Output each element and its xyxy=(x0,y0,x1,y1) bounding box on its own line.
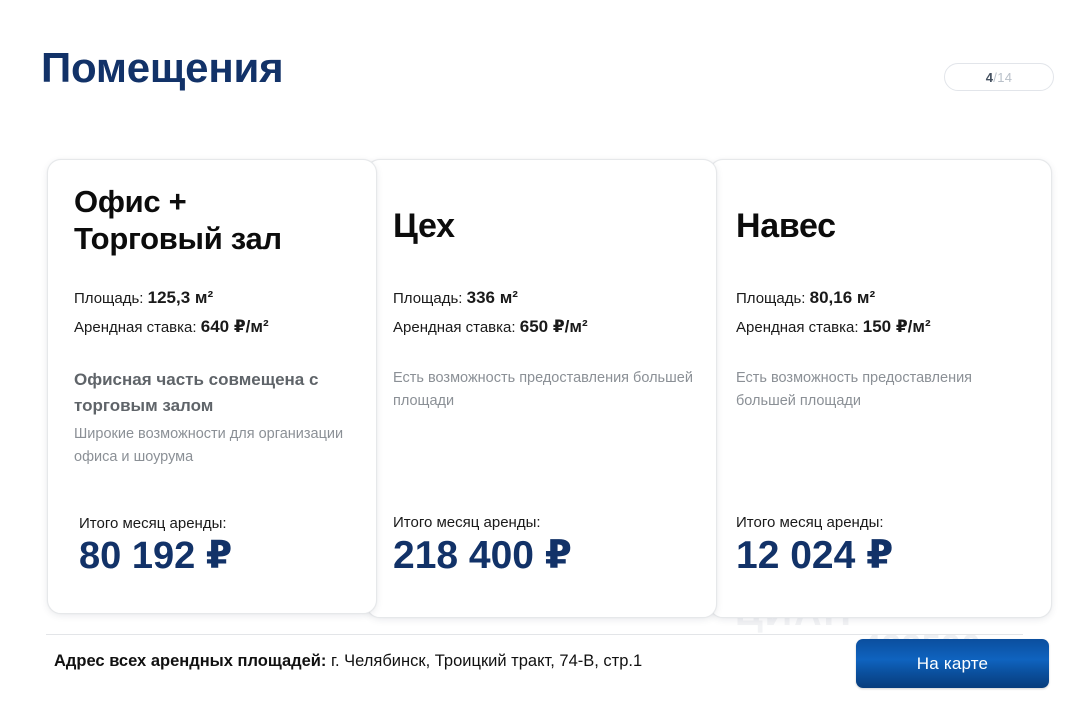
card-title-line-1: Офис + xyxy=(74,184,186,219)
card-total: Итого месяц аренды: 218 400 ₽ xyxy=(393,513,572,577)
page-counter: 4 / 14 xyxy=(944,63,1054,91)
spec-rate-label: Арендная ставка: xyxy=(74,319,197,336)
show-on-map-button[interactable]: На карте xyxy=(856,639,1049,688)
card-total-value: 12 024 ₽ xyxy=(736,535,893,577)
card-note-strong: Офисная часть совмещена с торговым залом xyxy=(74,367,354,419)
card-header: Офис + Торговый зал xyxy=(74,184,350,257)
spec-area-value: 125,3 м² xyxy=(148,288,214,307)
slide-header: Помещения 4 / 14 xyxy=(0,0,1069,150)
spec-area-value: 336 м² xyxy=(467,288,518,307)
spec-rate-value: 640 ₽/м² xyxy=(201,317,269,336)
card-header: Навес xyxy=(736,184,1025,246)
spec-rate-value: 650 ₽/м² xyxy=(520,317,588,336)
card-total: Итого месяц аренды: 12 024 ₽ xyxy=(736,513,893,577)
card-total: Итого месяц аренды: 80 192 ₽ xyxy=(79,514,232,577)
footer-address-value: г. Челябинск, Троицкий тракт, 74-В, стр.… xyxy=(331,652,642,670)
card-total-value: 80 192 ₽ xyxy=(79,536,232,577)
premise-card-office-retail[interactable]: Офис + Торговый зал Площадь: 125,3 м² Ар… xyxy=(47,159,377,614)
footer-address: Адрес всех арендных площадей: г. Челябин… xyxy=(54,650,642,673)
card-title: Навес xyxy=(736,206,1025,246)
card-total-label: Итого месяц аренды: xyxy=(79,514,232,534)
premise-card-canopy[interactable]: Навес Площадь: 80,16 м² Арендная ставка:… xyxy=(709,159,1052,618)
page-title: Помещения xyxy=(41,46,283,90)
card-notes: Есть возможность предоставления большей … xyxy=(393,367,694,414)
spec-area: Площадь: 336 м² xyxy=(393,283,588,312)
spec-rate-label: Арендная ставка: xyxy=(393,319,516,336)
footer-address-label: Адрес всех арендных площадей: xyxy=(54,652,326,670)
spec-area-value: 80,16 м² xyxy=(810,288,876,307)
spec-rate-label: Арендная ставка: xyxy=(736,319,859,336)
card-specs: Площадь: 336 м² Арендная ставка: 650 ₽/м… xyxy=(393,283,588,341)
footer-divider xyxy=(46,634,1023,635)
card-note-plain: Широкие возможности для организации офис… xyxy=(74,423,354,470)
premises-card-list: Офис + Торговый зал Площадь: 125,3 м² Ар… xyxy=(0,159,1069,621)
page-counter-total: 14 xyxy=(997,70,1012,85)
spec-area-label: Площадь: xyxy=(736,290,805,307)
slide-root: Помещения 4 / 14 ЦИАН 433590 Офис + Торг… xyxy=(0,0,1069,715)
spec-rate: Арендная ставка: 640 ₽/м² xyxy=(74,312,269,341)
premise-card-workshop[interactable]: Цех Площадь: 336 м² Арендная ставка: 650… xyxy=(366,159,717,618)
spec-area-label: Площадь: xyxy=(74,290,143,307)
spec-rate: Арендная ставка: 150 ₽/м² xyxy=(736,312,931,341)
card-title: Цех xyxy=(393,206,690,246)
card-note-plain: Есть возможность предоставления большей … xyxy=(393,367,694,414)
card-title: Офис + Торговый зал xyxy=(74,184,350,257)
spec-rate-value: 150 ₽/м² xyxy=(863,317,931,336)
spec-area-label: Площадь: xyxy=(393,290,462,307)
card-total-label: Итого месяц аренды: xyxy=(393,513,572,533)
card-specs: Площадь: 125,3 м² Арендная ставка: 640 ₽… xyxy=(74,283,269,341)
card-total-label: Итого месяц аренды: xyxy=(736,513,893,533)
card-notes: Офисная часть совмещена с торговым залом… xyxy=(74,367,354,470)
card-title-line-2: Торговый зал xyxy=(74,221,282,256)
spec-rate: Арендная ставка: 650 ₽/м² xyxy=(393,312,588,341)
page-counter-current: 4 xyxy=(986,70,994,85)
card-header: Цех xyxy=(393,184,690,246)
card-specs: Площадь: 80,16 м² Арендная ставка: 150 ₽… xyxy=(736,283,931,341)
spec-area: Площадь: 80,16 м² xyxy=(736,283,931,312)
spec-area: Площадь: 125,3 м² xyxy=(74,283,269,312)
card-notes: Есть возможность предоставления большей … xyxy=(736,367,1029,414)
card-total-value: 218 400 ₽ xyxy=(393,535,572,577)
card-note-plain: Есть возможность предоставления большей … xyxy=(736,367,1029,414)
